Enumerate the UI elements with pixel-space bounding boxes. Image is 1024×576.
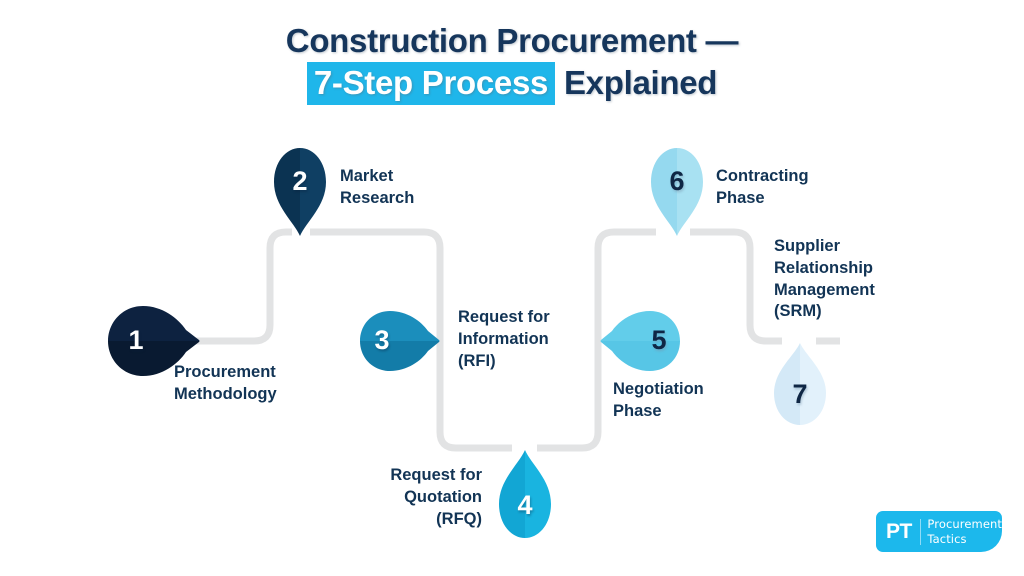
step-pin-4[interactable]: 4	[493, 450, 557, 538]
step-number-6: 6	[645, 168, 709, 195]
brand-logo[interactable]: PT Procurement Tactics	[876, 511, 1002, 552]
connector-1-2-3	[196, 232, 292, 341]
step-number-3: 3	[342, 327, 422, 354]
step-label-4: Request for Quotation (RFQ)	[318, 465, 482, 530]
step-pin-6[interactable]: 6	[645, 148, 709, 236]
step-label-3: Request for Information (RFI)	[458, 307, 618, 372]
step-label-5: Negotiation Phase	[613, 379, 773, 423]
infographic-canvas: Construction Procurement — 7-Step Proces…	[0, 0, 1024, 576]
step-number-2: 2	[268, 168, 332, 195]
step-pin-7[interactable]: 7	[768, 343, 832, 425]
logo-brand: Procurement Tactics	[927, 517, 1002, 545]
step-label-7: Supplier Relationship Management (SRM)	[774, 236, 924, 323]
logo-brand-line-2: Tactics	[927, 532, 1002, 546]
step-label-1: Procurement Methodology	[174, 362, 334, 406]
step-pin-2[interactable]: 2	[268, 148, 332, 236]
step-number-7: 7	[768, 381, 832, 408]
step-pin-3[interactable]: 3	[360, 311, 440, 371]
step-pin-5[interactable]: 5	[598, 311, 680, 371]
step-number-4: 4	[493, 492, 557, 519]
logo-divider	[920, 519, 921, 545]
logo-initials: PT	[876, 521, 912, 542]
connector-6-to-7	[690, 232, 782, 341]
step-label-6: Contracting Phase	[716, 166, 866, 210]
step-number-5: 5	[618, 327, 700, 354]
logo-brand-line-1: Procurement	[927, 517, 1002, 531]
step-label-2: Market Research	[340, 166, 490, 210]
step-number-1: 1	[90, 327, 182, 354]
